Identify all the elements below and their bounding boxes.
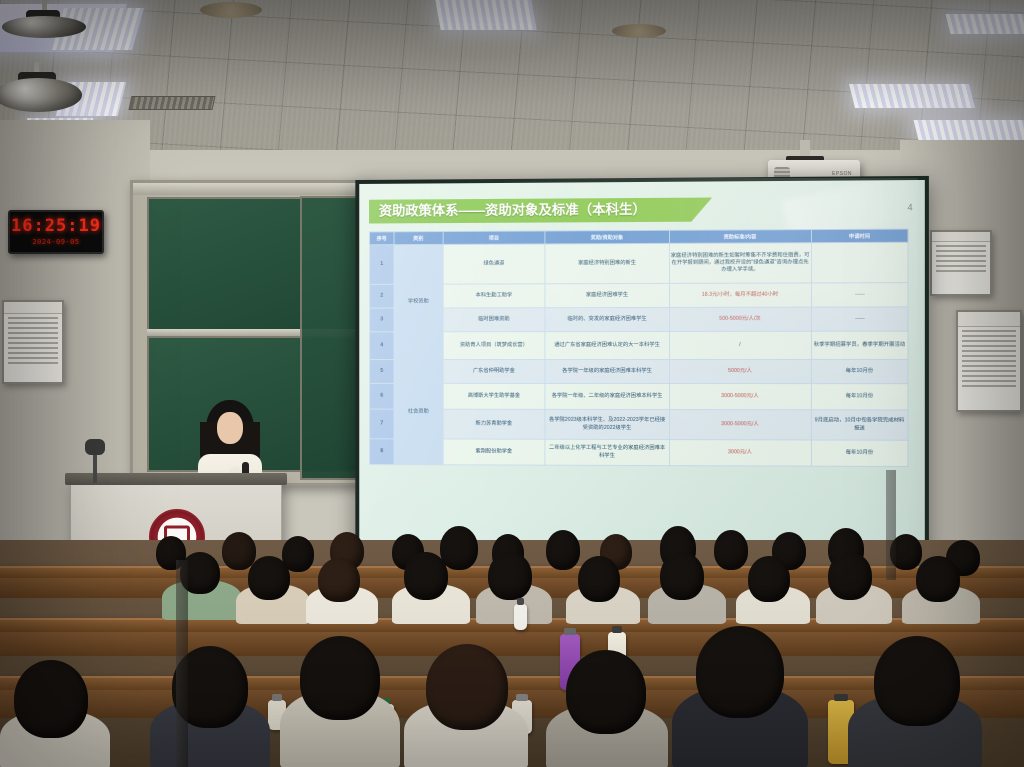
audience-head — [874, 636, 960, 726]
audience-head — [660, 552, 704, 600]
table-row: 7 新力苏青助学金 各学院2023级本科学生、及2022-2023学年已经接受资… — [370, 409, 908, 440]
bottle-cap — [516, 694, 527, 701]
bottle-cap — [272, 694, 282, 701]
cell-no: 8 — [370, 439, 394, 465]
bottle-cap — [517, 598, 524, 605]
speaker-face — [217, 412, 243, 444]
audience-head — [440, 526, 478, 570]
audience-head — [404, 552, 448, 600]
wall-notice-left — [2, 300, 64, 384]
table-row: 6 高博斯大学生助学基金 各学院一年级、二年级的家庭经济困难本科学生 3000-… — [370, 383, 908, 410]
cell-time: —— — [811, 307, 908, 331]
cell-category: 社会资助 — [394, 360, 443, 465]
notice-header — [4, 302, 62, 314]
water-bottle — [514, 604, 527, 630]
cell-standard: 家庭经济特别困难的新生如暂时筹集不齐学费和住宿费，可在开学报到期间，通过我校开设… — [669, 243, 811, 284]
cell-item: 新力苏青助学金 — [443, 409, 545, 439]
cell-standard: 5000元/人 — [669, 359, 811, 383]
desk-front-panel — [0, 632, 1024, 656]
cell-time: —— — [811, 283, 908, 307]
notice-header — [958, 312, 1020, 327]
slide-page-number: 4 — [907, 202, 912, 212]
funding-policy-table: 序号 类别 项目 奖助/资助对象 资助标准/内容 申请时间 1 学校资助 绿色通… — [369, 229, 908, 467]
cell-item: 绿色通道 — [443, 244, 545, 284]
table-row: 4 资助育人项目（筑梦成长营） 通过广东省家庭经济困难认定的大一本科学生 / 秋… — [370, 331, 908, 359]
cell-item: 临时困难资助 — [443, 308, 545, 332]
cell-target: 二年级以上化学工程与工艺专业的家庭经济困难本科学生 — [545, 439, 669, 465]
notice-text-lines — [4, 314, 62, 370]
table-row: 5 社会资助 广东省仲明助学金 各学院一年级的家庭经济困难本科学生 5000元/… — [370, 359, 908, 383]
col-target: 奖助/资助对象 — [545, 230, 669, 244]
cell-item: 高博斯大学生助学基金 — [443, 383, 545, 409]
table-row: 3 临时困难资助 临时的、突发的家庭经济困难学生 500-5000元/人/次 —… — [370, 307, 908, 332]
cell-item: 资助育人项目（筑梦成长营） — [443, 332, 545, 360]
digital-wall-clock: 16:25:19 2024-09-05 — [8, 210, 104, 254]
audience-head — [828, 552, 872, 600]
audience-head — [14, 660, 88, 738]
cell-target: 家庭经济困难学生 — [545, 283, 669, 307]
blackboard-top-rail — [133, 183, 368, 195]
audience-head — [566, 650, 646, 734]
audience-head — [300, 636, 380, 720]
wall-notice-right-upper — [930, 230, 992, 296]
col-no: 序号 — [370, 232, 394, 245]
audience-head — [578, 556, 620, 602]
table-row: 1 学校资助 绿色通道 家庭经济特别困难的新生 家庭经济特别困难的新生如暂时筹集… — [370, 242, 908, 284]
col-time: 申请时间 — [811, 229, 908, 243]
cell-no: 2 — [370, 284, 394, 308]
col-item: 项目 — [443, 231, 545, 244]
audience-head — [916, 556, 960, 602]
audience-head — [696, 626, 784, 718]
cell-category: 学校资助 — [394, 244, 443, 359]
cell-time: 9月底启动，10月中旬各学院完成材料报送 — [811, 410, 908, 440]
table-row: 8 紫荆股份助学金 二年级以上化学工程与工艺专业的家庭经济困难本科学生 3000… — [370, 439, 908, 467]
cell-target: 各学院一年级的家庭经济困难本科学生 — [545, 359, 669, 383]
cell-standard: 18.3元/小时，每月不超过40小时 — [669, 283, 811, 307]
audience-head — [248, 556, 290, 600]
bottle-cap — [834, 694, 849, 701]
cell-time — [811, 242, 908, 283]
cell-time: 每年10月份 — [811, 440, 908, 467]
cell-target: 各学院一年级、二年级的家庭经济困难本科学生 — [545, 383, 669, 409]
lecture-hall-photo: 16:25:19 2024-09-05 EPSON 资助政策体系— — [0, 0, 1024, 767]
table-row: 2 本科生勤工助学 家庭经济困难学生 18.3元/小时，每月不超过40小时 —— — [370, 283, 908, 308]
clock-time: 16:25:19 — [11, 218, 101, 235]
cell-time: 每年10月份 — [811, 384, 908, 410]
cell-standard: 3000元/人 — [669, 440, 811, 467]
cell-standard: 500-5000元/人/次 — [669, 307, 811, 331]
slide-surface: 资助政策体系——资助对象及标准（本科生） 4 序号 类别 项目 奖助/资助对象 … — [359, 180, 925, 556]
cell-no: 7 — [370, 409, 394, 439]
notice-text-lines — [958, 327, 1020, 393]
cell-target: 家庭经济特别困难的新生 — [545, 243, 669, 283]
col-standard: 资助标准/内容 — [669, 230, 811, 244]
audience-head — [318, 558, 360, 602]
cell-target: 通过广东省家庭经济困难认定的大一本科学生 — [545, 331, 669, 359]
bottle-cap — [564, 628, 575, 635]
audience-head — [488, 552, 532, 600]
bottle-cap — [612, 626, 622, 633]
audience-head — [714, 530, 748, 570]
wall-notice-right — [956, 310, 1022, 412]
cell-time: 每年10月份 — [811, 359, 908, 383]
cell-no: 3 — [370, 308, 394, 332]
audience-head — [426, 644, 508, 730]
col-category: 类别 — [394, 232, 443, 245]
slide-title: 资助政策体系——资助对象及标准（本科生） — [369, 198, 712, 224]
room-pillar — [176, 560, 188, 767]
cell-standard: / — [669, 331, 811, 359]
cell-standard: 3000-5000元/人 — [669, 384, 811, 410]
clock-date: 2024-09-05 — [32, 238, 79, 246]
cell-no: 6 — [370, 383, 394, 409]
notice-header — [932, 232, 990, 242]
projection-screen: 资助政策体系——资助对象及标准（本科生） 4 序号 类别 项目 奖助/资助对象 … — [355, 176, 929, 560]
gooseneck-mic-head — [85, 439, 105, 455]
cell-target: 临时的、突发的家庭经济困难学生 — [545, 307, 669, 331]
audience-head — [748, 556, 790, 602]
cell-item: 紫荆股份助学金 — [443, 439, 545, 465]
notice-text-lines — [932, 242, 990, 278]
cell-item: 广东省仲明助学金 — [443, 360, 545, 384]
audience-head — [546, 530, 580, 570]
cell-standard: 3000-5000元/人 — [669, 410, 811, 440]
cell-no: 4 — [370, 332, 394, 360]
room-pillar — [886, 470, 896, 580]
cell-time: 秋季学期招募学员，春季学期开展活动 — [811, 331, 908, 359]
cell-target: 各学院2023级本科学生、及2022-2023学年已经接受资助的2022级学生 — [545, 409, 669, 439]
cell-no: 1 — [370, 245, 394, 285]
lectern-top-surface — [65, 473, 287, 485]
cell-no: 5 — [370, 360, 394, 384]
gooseneck-mic-stand — [93, 451, 97, 483]
cell-item: 本科生勤工助学 — [443, 284, 545, 308]
